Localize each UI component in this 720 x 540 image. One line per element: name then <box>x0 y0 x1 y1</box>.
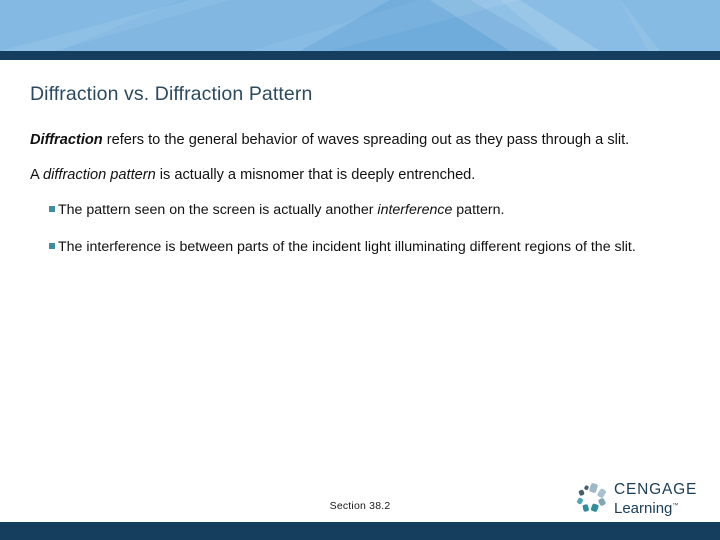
header-divider-rule <box>0 51 720 60</box>
list-item: The pattern seen on the screen is actual… <box>30 200 695 220</box>
list-item: The interference is between parts of the… <box>30 237 695 257</box>
slide-canvas: Diffraction vs. Diffraction Pattern Diff… <box>0 0 720 540</box>
bullet-2-lead: The interference is between parts of the… <box>58 239 636 255</box>
paragraph-2-lead: A <box>30 167 43 183</box>
paragraph-2-emphasis: diffraction pattern <box>43 167 156 183</box>
paragraph-2: A diffraction pattern is actually a misn… <box>30 165 695 186</box>
bullet-list: The pattern seen on the screen is actual… <box>30 200 695 257</box>
square-bullet-icon <box>49 243 55 249</box>
page-title: Diffraction vs. Diffraction Pattern <box>30 82 690 106</box>
header-banner <box>0 0 720 51</box>
square-bullet-icon <box>49 206 55 212</box>
cengage-dots-mark-icon <box>576 482 610 514</box>
slide-body: Diffraction refers to the general behavi… <box>30 130 695 274</box>
trademark-symbol: ™ <box>672 503 678 509</box>
cengage-logo: CENGAGE Learning™ <box>576 481 694 517</box>
learning-text: Learning <box>614 500 672 517</box>
bullet-1-text: pattern. <box>452 202 504 218</box>
bullet-1-lead: The pattern seen on the screen is actual… <box>58 202 377 218</box>
header-geometric-pattern <box>0 0 720 51</box>
footer-divider-rule <box>0 522 720 540</box>
paragraph-2-text: is actually a misnomer that is deeply en… <box>156 167 476 183</box>
learning-wordmark: Learning™ <box>614 498 696 517</box>
cengage-dots-svg <box>576 482 610 514</box>
bullet-1-emphasis: interference <box>377 202 452 218</box>
paragraph-1-emphasis: Diffraction <box>30 132 103 148</box>
paragraph-1-text: refers to the general behavior of waves … <box>103 132 630 148</box>
cengage-logo-text: CENGAGE Learning™ <box>614 481 696 517</box>
cengage-wordmark: CENGAGE <box>614 481 696 498</box>
paragraph-1: Diffraction refers to the general behavi… <box>30 130 695 151</box>
